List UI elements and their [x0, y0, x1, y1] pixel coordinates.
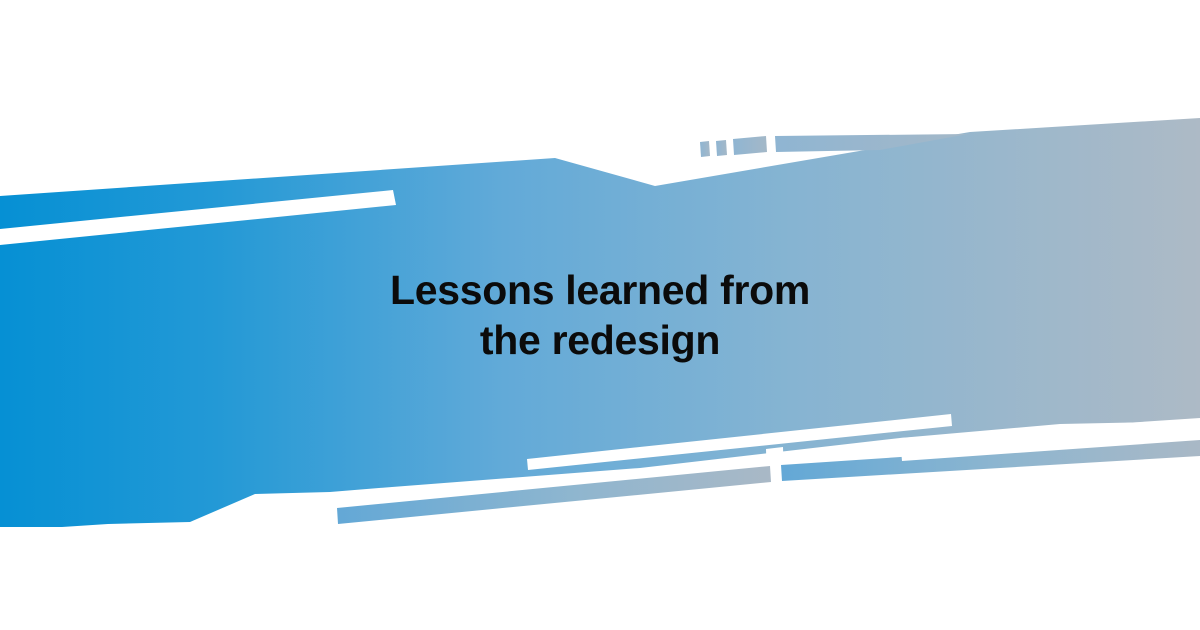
dash-3-icon	[733, 136, 767, 155]
dash-2-icon	[716, 140, 727, 156]
banner-card: Lessons learned from the redesign	[0, 0, 1200, 630]
decorative-artwork	[0, 0, 1200, 630]
dash-1-icon	[700, 141, 710, 157]
